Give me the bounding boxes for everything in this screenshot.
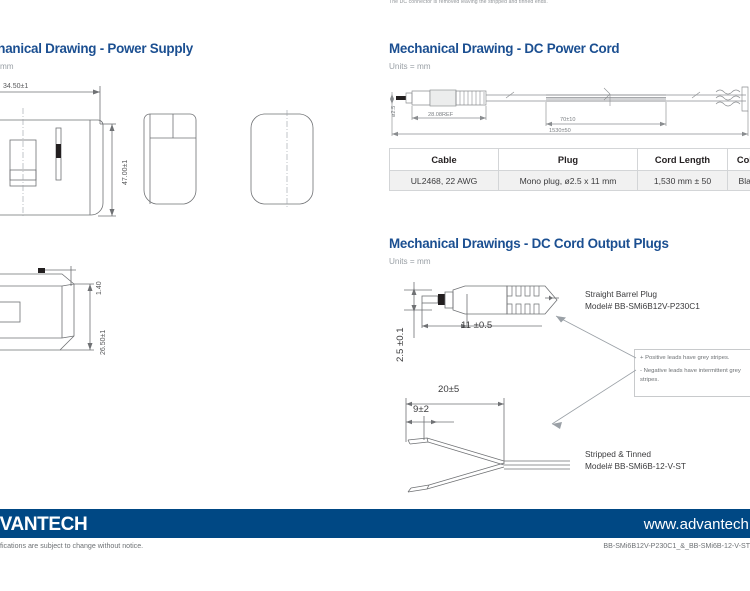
plug-b-name: Stripped & Tinned xyxy=(585,448,686,460)
dimension-ps-pin: 1.40 xyxy=(96,281,103,295)
plug-a-name: Straight Barrel Plug xyxy=(585,288,700,300)
drawing-power-supply-side-2 xyxy=(250,108,330,218)
column-header-plug: Plug xyxy=(499,149,638,171)
lead-polarity-callout: + Positive leads have grey stripes. - Ne… xyxy=(634,349,750,397)
dimension-plug-length: 11 ±0.5 xyxy=(461,320,492,331)
cell-cord-length: 1,530 mm ± 50 xyxy=(638,171,728,191)
advantech-logo: ADVANTECH xyxy=(0,514,87,536)
dimension-cord-connector-length: 28.08REF xyxy=(428,112,453,118)
cell-plug: Mono plug, ø2.5 x 11 mm xyxy=(499,171,638,191)
dimension-ps-depth: 26.50±1 xyxy=(100,330,107,355)
dimension-cord-split-length: 70±10 xyxy=(560,117,576,123)
dimension-strip-tinned: 9±2 xyxy=(413,404,429,415)
dimension-cord-total-length: 1530±50 xyxy=(549,128,571,134)
plug-b-label: Stripped & Tinned Model# BB-SMi6B-12-V-S… xyxy=(585,448,686,472)
advantech-logo-text: ADVANTECH xyxy=(0,514,87,535)
section-units-output-plugs: Units = mm xyxy=(389,257,431,266)
column-header-cord-length: Cord Length xyxy=(638,149,728,171)
cord-spec-table: Cable Plug Cord Length Color UL2468, 22 … xyxy=(389,148,750,191)
callout-negative: - Negative leads have intermittent grey … xyxy=(640,367,747,385)
cell-color: Black xyxy=(728,171,750,191)
top-note: The DC connector is removed leaving the … xyxy=(389,0,729,5)
section-title-dc-power-cord: Mechanical Drawing - DC Power Cord xyxy=(389,41,619,56)
section-units-power-supply: Units = mm xyxy=(0,62,14,71)
dimension-cord-plug-diameter: ø2.5 xyxy=(391,106,397,117)
datasheet-page: The DC connector is removed leaving the … xyxy=(0,0,750,591)
column-header-color: Color xyxy=(728,149,750,171)
footer-website: www.advantech. xyxy=(644,516,750,533)
cell-cable: UL2468, 22 AWG xyxy=(390,171,499,191)
plug-b-model: Model# BB-SMi6B-12-V-ST xyxy=(585,460,686,472)
callout-positive: + Positive leads have grey stripes. xyxy=(640,354,747,363)
column-header-cable: Cable xyxy=(390,149,499,171)
section-units-dc-power-cord: Units = mm xyxy=(389,62,431,71)
dimension-ps-width: 34.50±1 xyxy=(3,83,28,90)
section-title-output-plugs: Mechanical Drawings - DC Cord Output Plu… xyxy=(389,236,669,251)
dimension-strip-total: 20±5 xyxy=(438,384,459,395)
footer-document-code: BB-SMi6B12V-P230C1_&_BB-SMi6B-12-V-ST_ xyxy=(603,542,750,550)
dimension-ps-height: 47.00±1 xyxy=(122,160,129,185)
section-title-power-supply: Mechanical Drawing - Power Supply xyxy=(0,41,193,56)
drawing-power-supply-bottom xyxy=(0,262,140,372)
table-header-row: Cable Plug Cord Length Color xyxy=(390,149,750,171)
dimension-plug-diameter: 2.5 ±0.1 xyxy=(395,327,406,362)
footer-bar xyxy=(0,509,750,538)
drawing-power-supply-side xyxy=(140,108,210,218)
table-row: UL2468, 22 AWG Mono plug, ø2.5 x 11 mm 1… xyxy=(390,171,750,191)
footer-disclaimer: uct specifications are subject to change… xyxy=(0,542,143,550)
